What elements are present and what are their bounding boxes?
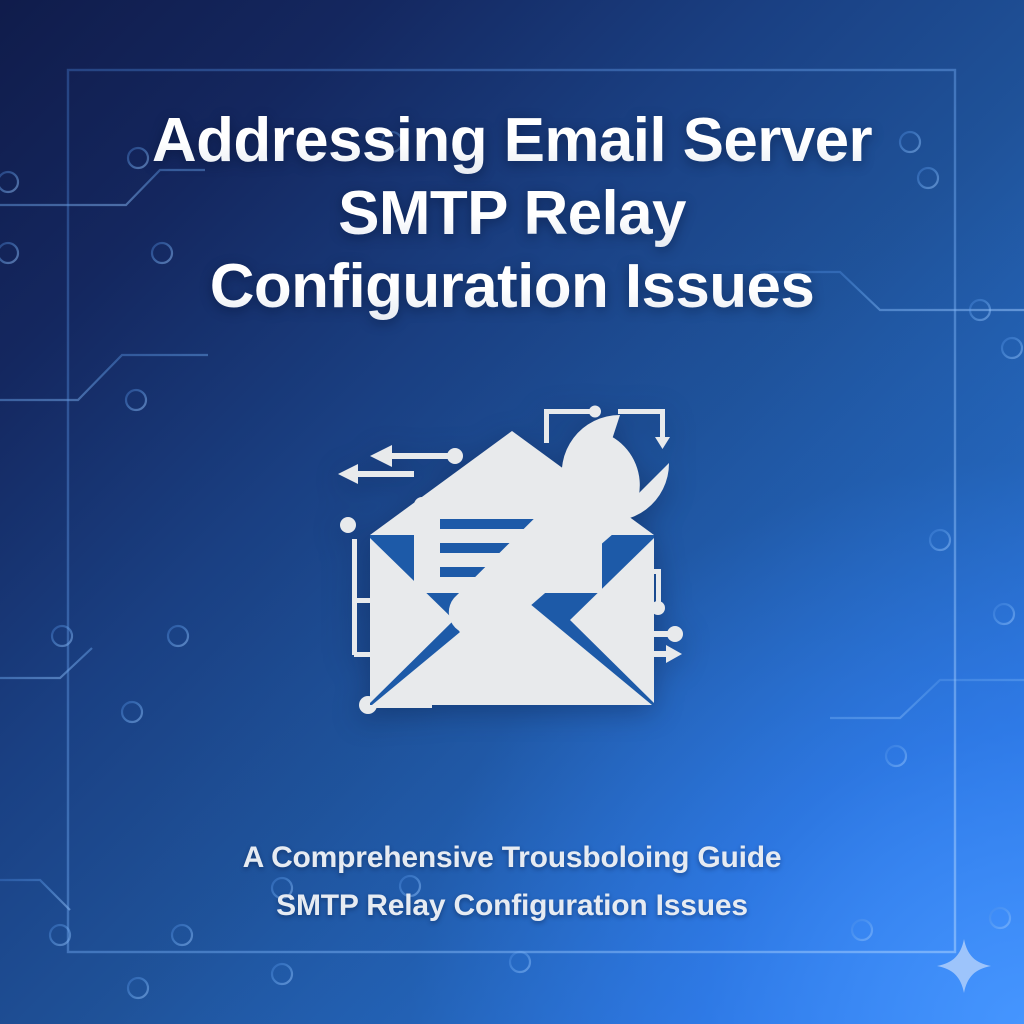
poster-subtitle: A Comprehensive Trousboloing Guide SMTP … bbox=[0, 834, 1024, 930]
subtitle-line-2: SMTP Relay Configuration Issues bbox=[100, 882, 924, 930]
poster-title: Addressing Email Server SMTP Relay Confi… bbox=[0, 104, 1024, 323]
envelope-wrench-illustration bbox=[326, 393, 698, 765]
poster-canvas: Addressing Email Server SMTP Relay Confi… bbox=[0, 0, 1024, 1024]
subtitle-line-1: A Comprehensive Trousboloing Guide bbox=[100, 834, 924, 882]
title-line-3: Configuration Issues bbox=[86, 250, 938, 323]
sparkle-icon bbox=[934, 936, 994, 996]
title-line-1: Addressing Email Server bbox=[86, 104, 938, 177]
title-line-2: SMTP Relay bbox=[86, 177, 938, 250]
